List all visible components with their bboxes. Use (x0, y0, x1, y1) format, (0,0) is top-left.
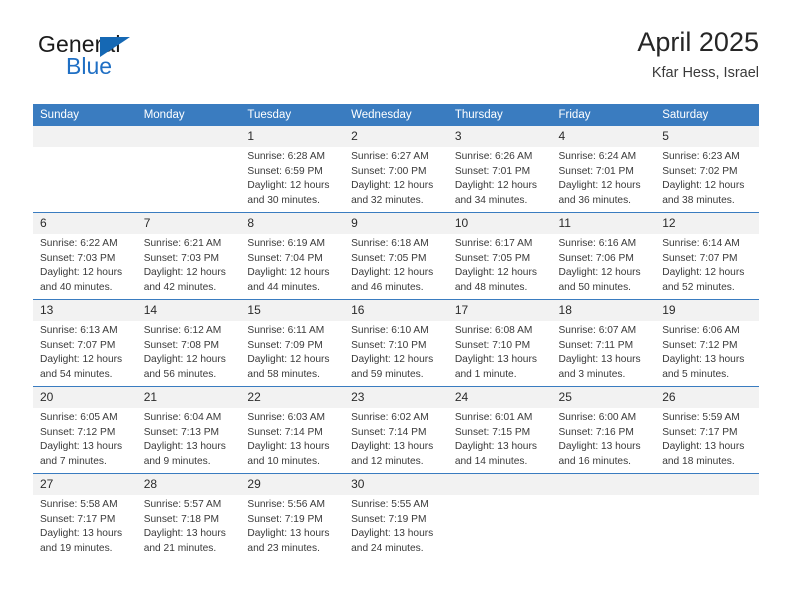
sunset-text: Sunset: 7:07 PM (662, 252, 753, 267)
daylight-text-line1: Daylight: 13 hours (247, 440, 338, 455)
sunrise-text: Sunrise: 6:22 AM (40, 237, 131, 252)
weekday-header-saturday: Saturday (655, 104, 759, 126)
sunset-text: Sunset: 7:18 PM (144, 513, 235, 528)
sunrise-text: Sunrise: 6:14 AM (662, 237, 753, 252)
daylight-text-line1: Daylight: 12 hours (40, 266, 131, 281)
day-cell-details[interactable]: Sunrise: 5:55 AMSunset: 7:19 PMDaylight:… (344, 495, 448, 560)
sunset-text: Sunset: 7:14 PM (351, 426, 442, 441)
empty-day-cell (552, 495, 656, 560)
empty-day-cell (448, 495, 552, 560)
daylight-text-line2: and 54 minutes. (40, 368, 131, 383)
sunrise-text: Sunrise: 6:00 AM (559, 411, 650, 426)
sunrise-text: Sunrise: 6:13 AM (40, 324, 131, 339)
sunrise-text: Sunrise: 6:21 AM (144, 237, 235, 252)
sunrise-text: Sunrise: 6:05 AM (40, 411, 131, 426)
day-number[interactable]: 2 (344, 126, 448, 147)
daylight-text-line2: and 7 minutes. (40, 455, 131, 470)
day-cell-details[interactable]: Sunrise: 6:27 AMSunset: 7:00 PMDaylight:… (344, 147, 448, 213)
sunset-text: Sunset: 7:02 PM (662, 165, 753, 180)
week-daynumber-row: 12345 (33, 126, 759, 147)
title-block: April 2025 Kfar Hess, Israel (637, 28, 759, 82)
sunset-text: Sunset: 7:00 PM (351, 165, 442, 180)
day-cell-details[interactable]: Sunrise: 6:07 AMSunset: 7:11 PMDaylight:… (552, 321, 656, 387)
sunset-text: Sunset: 7:07 PM (40, 339, 131, 354)
sunrise-text: Sunrise: 6:08 AM (455, 324, 546, 339)
day-cell-details[interactable]: Sunrise: 6:06 AMSunset: 7:12 PMDaylight:… (655, 321, 759, 387)
sunset-text: Sunset: 7:17 PM (662, 426, 753, 441)
daylight-text-line2: and 30 minutes. (247, 194, 338, 209)
daylight-text-line1: Daylight: 12 hours (144, 266, 235, 281)
daylight-text-line1: Daylight: 13 hours (559, 353, 650, 368)
location-subtitle: Kfar Hess, Israel (637, 66, 759, 82)
day-cell-details[interactable]: Sunrise: 6:01 AMSunset: 7:15 PMDaylight:… (448, 408, 552, 474)
day-number[interactable]: 12 (655, 213, 759, 235)
sunset-text: Sunset: 7:10 PM (455, 339, 546, 354)
day-number[interactable]: 4 (552, 126, 656, 147)
day-cell-details[interactable]: Sunrise: 6:04 AMSunset: 7:13 PMDaylight:… (137, 408, 241, 474)
day-number[interactable]: 18 (552, 300, 656, 322)
day-number[interactable]: 1 (240, 126, 344, 147)
week-daynumber-row: 20212223242526 (33, 387, 759, 409)
weekday-header-row: Sunday Monday Tuesday Wednesday Thursday… (33, 104, 759, 126)
day-cell-details[interactable]: Sunrise: 6:26 AMSunset: 7:01 PMDaylight:… (448, 147, 552, 213)
sunrise-text: Sunrise: 5:59 AM (662, 411, 753, 426)
day-number[interactable]: 6 (33, 213, 137, 235)
daylight-text-line1: Daylight: 13 hours (144, 440, 235, 455)
daylight-text-line1: Daylight: 12 hours (247, 353, 338, 368)
weekday-header-wednesday: Wednesday (344, 104, 448, 126)
day-cell-details[interactable]: Sunrise: 6:17 AMSunset: 7:05 PMDaylight:… (448, 234, 552, 300)
sunrise-text: Sunrise: 6:26 AM (455, 150, 546, 165)
sunrise-text: Sunrise: 5:56 AM (247, 498, 338, 513)
daylight-text-line2: and 46 minutes. (351, 281, 442, 296)
day-number[interactable]: 26 (655, 387, 759, 409)
daylight-text-line2: and 42 minutes. (144, 281, 235, 296)
sunset-text: Sunset: 7:05 PM (455, 252, 546, 267)
daylight-text-line1: Daylight: 13 hours (40, 527, 131, 542)
sunrise-text: Sunrise: 6:04 AM (144, 411, 235, 426)
day-number[interactable]: 17 (448, 300, 552, 322)
sunset-text: Sunset: 7:04 PM (247, 252, 338, 267)
empty-day-number (552, 474, 656, 496)
sunset-text: Sunset: 7:15 PM (455, 426, 546, 441)
daylight-text-line2: and 9 minutes. (144, 455, 235, 470)
sunset-text: Sunset: 7:06 PM (559, 252, 650, 267)
sunset-text: Sunset: 7:19 PM (351, 513, 442, 528)
daylight-text-line1: Daylight: 12 hours (662, 266, 753, 281)
sunset-text: Sunset: 7:12 PM (40, 426, 131, 441)
daylight-text-line1: Daylight: 12 hours (455, 179, 546, 194)
sunset-text: Sunset: 7:09 PM (247, 339, 338, 354)
day-number[interactable]: 21 (137, 387, 241, 409)
weekday-header-monday: Monday (137, 104, 241, 126)
day-cell-details[interactable]: Sunrise: 6:22 AMSunset: 7:03 PMDaylight:… (33, 234, 137, 300)
daylight-text-line1: Daylight: 13 hours (662, 440, 753, 455)
brand-name-blue: Blue (66, 55, 112, 78)
daylight-text-line2: and 12 minutes. (351, 455, 442, 470)
sunset-text: Sunset: 7:14 PM (247, 426, 338, 441)
day-number[interactable]: 15 (240, 300, 344, 322)
calendar-page: General Blue April 2025 Kfar Hess, Israe… (0, 0, 792, 612)
day-cell-details[interactable]: Sunrise: 6:12 AMSunset: 7:08 PMDaylight:… (137, 321, 241, 387)
daylight-text-line1: Daylight: 13 hours (351, 440, 442, 455)
sunrise-text: Sunrise: 6:23 AM (662, 150, 753, 165)
sunrise-text: Sunrise: 6:28 AM (247, 150, 338, 165)
sunset-text: Sunset: 7:03 PM (144, 252, 235, 267)
weekday-header-tuesday: Tuesday (240, 104, 344, 126)
day-number[interactable]: 16 (344, 300, 448, 322)
empty-day-number (137, 126, 241, 147)
sunrise-text: Sunrise: 6:07 AM (559, 324, 650, 339)
week-daynumber-row: 27282930 (33, 474, 759, 496)
day-cell-details[interactable]: Sunrise: 5:59 AMSunset: 7:17 PMDaylight:… (655, 408, 759, 474)
day-cell-details[interactable]: Sunrise: 6:24 AMSunset: 7:01 PMDaylight:… (552, 147, 656, 213)
day-number[interactable]: 14 (137, 300, 241, 322)
day-cell-details[interactable]: Sunrise: 6:19 AMSunset: 7:04 PMDaylight:… (240, 234, 344, 300)
sunset-text: Sunset: 6:59 PM (247, 165, 338, 180)
weekday-header-sunday: Sunday (33, 104, 137, 126)
daylight-text-line1: Daylight: 13 hours (40, 440, 131, 455)
daylight-text-line1: Daylight: 12 hours (662, 179, 753, 194)
daylight-text-line1: Daylight: 12 hours (40, 353, 131, 368)
daylight-text-line1: Daylight: 12 hours (351, 353, 442, 368)
daylight-text-line2: and 32 minutes. (351, 194, 442, 209)
daylight-text-line2: and 50 minutes. (559, 281, 650, 296)
daylight-text-line2: and 59 minutes. (351, 368, 442, 383)
week-detail-row: Sunrise: 6:28 AMSunset: 6:59 PMDaylight:… (33, 147, 759, 213)
daylight-text-line2: and 36 minutes. (559, 194, 650, 209)
day-cell-details[interactable]: Sunrise: 6:10 AMSunset: 7:10 PMDaylight:… (344, 321, 448, 387)
day-cell-details[interactable]: Sunrise: 5:57 AMSunset: 7:18 PMDaylight:… (137, 495, 241, 560)
week-detail-row: Sunrise: 6:22 AMSunset: 7:03 PMDaylight:… (33, 234, 759, 300)
daylight-text-line2: and 52 minutes. (662, 281, 753, 296)
sunrise-text: Sunrise: 5:57 AM (144, 498, 235, 513)
daylight-text-line2: and 23 minutes. (247, 542, 338, 557)
sunset-text: Sunset: 7:19 PM (247, 513, 338, 528)
empty-day-number (448, 474, 552, 496)
day-number[interactable]: 28 (137, 474, 241, 496)
day-number[interactable]: 11 (552, 213, 656, 235)
daylight-text-line2: and 58 minutes. (247, 368, 338, 383)
sunrise-text: Sunrise: 6:11 AM (247, 324, 338, 339)
day-cell-details[interactable]: Sunrise: 6:23 AMSunset: 7:02 PMDaylight:… (655, 147, 759, 213)
daylight-text-line2: and 16 minutes. (559, 455, 650, 470)
daylight-text-line1: Daylight: 12 hours (455, 266, 546, 281)
sunrise-text: Sunrise: 6:17 AM (455, 237, 546, 252)
sunrise-text: Sunrise: 6:01 AM (455, 411, 546, 426)
daylight-text-line1: Daylight: 13 hours (455, 353, 546, 368)
daylight-text-line2: and 18 minutes. (662, 455, 753, 470)
day-number[interactable]: 19 (655, 300, 759, 322)
daylight-text-line1: Daylight: 13 hours (144, 527, 235, 542)
day-cell-details[interactable]: Sunrise: 6:03 AMSunset: 7:14 PMDaylight:… (240, 408, 344, 474)
empty-day-cell (137, 147, 241, 213)
day-cell-details[interactable]: Sunrise: 5:56 AMSunset: 7:19 PMDaylight:… (240, 495, 344, 560)
page-title: April 2025 (637, 28, 759, 58)
daylight-text-line2: and 34 minutes. (455, 194, 546, 209)
day-cell-details[interactable]: Sunrise: 6:21 AMSunset: 7:03 PMDaylight:… (137, 234, 241, 300)
daylight-text-line2: and 5 minutes. (662, 368, 753, 383)
week-detail-row: Sunrise: 6:05 AMSunset: 7:12 PMDaylight:… (33, 408, 759, 474)
day-cell-details[interactable]: Sunrise: 5:58 AMSunset: 7:17 PMDaylight:… (33, 495, 137, 560)
day-cell-details[interactable]: Sunrise: 6:08 AMSunset: 7:10 PMDaylight:… (448, 321, 552, 387)
sunrise-text: Sunrise: 6:16 AM (559, 237, 650, 252)
daylight-text-line1: Daylight: 12 hours (247, 179, 338, 194)
daylight-text-line2: and 48 minutes. (455, 281, 546, 296)
week-detail-row: Sunrise: 6:13 AMSunset: 7:07 PMDaylight:… (33, 321, 759, 387)
daylight-text-line1: Daylight: 12 hours (144, 353, 235, 368)
daylight-text-line1: Daylight: 12 hours (351, 179, 442, 194)
daylight-text-line2: and 19 minutes. (40, 542, 131, 557)
day-number[interactable]: 8 (240, 213, 344, 235)
empty-day-number (655, 474, 759, 496)
sunset-text: Sunset: 7:11 PM (559, 339, 650, 354)
day-number[interactable]: 3 (448, 126, 552, 147)
day-number[interactable]: 5 (655, 126, 759, 147)
daylight-text-line2: and 3 minutes. (559, 368, 650, 383)
daylight-text-line1: Daylight: 12 hours (351, 266, 442, 281)
day-number[interactable]: 30 (344, 474, 448, 496)
sunset-text: Sunset: 7:10 PM (351, 339, 442, 354)
daylight-text-line1: Daylight: 13 hours (455, 440, 546, 455)
daylight-text-line2: and 56 minutes. (144, 368, 235, 383)
day-cell-details[interactable]: Sunrise: 6:14 AMSunset: 7:07 PMDaylight:… (655, 234, 759, 300)
sunrise-text: Sunrise: 6:19 AM (247, 237, 338, 252)
day-cell-details[interactable]: Sunrise: 6:28 AMSunset: 6:59 PMDaylight:… (240, 147, 344, 213)
sunset-text: Sunset: 7:08 PM (144, 339, 235, 354)
sunset-text: Sunset: 7:13 PM (144, 426, 235, 441)
sunset-text: Sunset: 7:12 PM (662, 339, 753, 354)
sunset-text: Sunset: 7:01 PM (559, 165, 650, 180)
day-number[interactable]: 7 (137, 213, 241, 235)
sunrise-text: Sunrise: 6:27 AM (351, 150, 442, 165)
calendar-body: 12345Sunrise: 6:28 AMSunset: 6:59 PMDayl… (33, 126, 759, 560)
day-cell-details[interactable]: Sunrise: 6:00 AMSunset: 7:16 PMDaylight:… (552, 408, 656, 474)
day-cell-details[interactable]: Sunrise: 6:18 AMSunset: 7:05 PMDaylight:… (344, 234, 448, 300)
day-number[interactable]: 27 (33, 474, 137, 496)
sunset-text: Sunset: 7:17 PM (40, 513, 131, 528)
daylight-text-line1: Daylight: 13 hours (351, 527, 442, 542)
daylight-text-line1: Daylight: 13 hours (662, 353, 753, 368)
sunset-text: Sunset: 7:05 PM (351, 252, 442, 267)
brand-logo[interactable]: General Blue (38, 33, 188, 91)
daylight-text-line2: and 21 minutes. (144, 542, 235, 557)
day-number[interactable]: 10 (448, 213, 552, 235)
sunrise-sunset-calendar-table: Sunday Monday Tuesday Wednesday Thursday… (33, 104, 759, 560)
day-number[interactable]: 25 (552, 387, 656, 409)
daylight-text-line1: Daylight: 13 hours (247, 527, 338, 542)
day-number[interactable]: 22 (240, 387, 344, 409)
day-cell-details[interactable]: Sunrise: 6:11 AMSunset: 7:09 PMDaylight:… (240, 321, 344, 387)
day-number[interactable]: 29 (240, 474, 344, 496)
sunrise-text: Sunrise: 6:24 AM (559, 150, 650, 165)
sunrise-text: Sunrise: 5:58 AM (40, 498, 131, 513)
sunset-text: Sunset: 7:01 PM (455, 165, 546, 180)
daylight-text-line2: and 10 minutes. (247, 455, 338, 470)
day-number[interactable]: 23 (344, 387, 448, 409)
weekday-header-friday: Friday (552, 104, 656, 126)
daylight-text-line2: and 40 minutes. (40, 281, 131, 296)
day-number[interactable]: 9 (344, 213, 448, 235)
week-daynumber-row: 6789101112 (33, 213, 759, 235)
sunrise-text: Sunrise: 6:06 AM (662, 324, 753, 339)
day-cell-details[interactable]: Sunrise: 6:05 AMSunset: 7:12 PMDaylight:… (33, 408, 137, 474)
sunrise-text: Sunrise: 6:10 AM (351, 324, 442, 339)
weekday-header-thursday: Thursday (448, 104, 552, 126)
day-cell-details[interactable]: Sunrise: 6:02 AMSunset: 7:14 PMDaylight:… (344, 408, 448, 474)
sunset-text: Sunset: 7:16 PM (559, 426, 650, 441)
daylight-text-line1: Daylight: 12 hours (559, 266, 650, 281)
daylight-text-line2: and 38 minutes. (662, 194, 753, 209)
daylight-text-line1: Daylight: 12 hours (247, 266, 338, 281)
week-daynumber-row: 13141516171819 (33, 300, 759, 322)
day-cell-details[interactable]: Sunrise: 6:13 AMSunset: 7:07 PMDaylight:… (33, 321, 137, 387)
sunrise-text: Sunrise: 6:18 AM (351, 237, 442, 252)
day-number[interactable]: 20 (33, 387, 137, 409)
week-detail-row: Sunrise: 5:58 AMSunset: 7:17 PMDaylight:… (33, 495, 759, 560)
sunrise-text: Sunrise: 5:55 AM (351, 498, 442, 513)
day-number[interactable]: 24 (448, 387, 552, 409)
empty-day-cell (655, 495, 759, 560)
daylight-text-line2: and 24 minutes. (351, 542, 442, 557)
page-header: General Blue April 2025 Kfar Hess, Israe… (33, 28, 759, 98)
daylight-text-line2: and 14 minutes. (455, 455, 546, 470)
sunrise-text: Sunrise: 6:03 AM (247, 411, 338, 426)
daylight-text-line1: Daylight: 13 hours (559, 440, 650, 455)
empty-day-cell (33, 147, 137, 213)
day-number[interactable]: 13 (33, 300, 137, 322)
daylight-text-line2: and 1 minute. (455, 368, 546, 383)
daylight-text-line2: and 44 minutes. (247, 281, 338, 296)
sunrise-text: Sunrise: 6:12 AM (144, 324, 235, 339)
sunset-text: Sunset: 7:03 PM (40, 252, 131, 267)
sunrise-text: Sunrise: 6:02 AM (351, 411, 442, 426)
daylight-text-line1: Daylight: 12 hours (559, 179, 650, 194)
empty-day-number (33, 126, 137, 147)
day-cell-details[interactable]: Sunrise: 6:16 AMSunset: 7:06 PMDaylight:… (552, 234, 656, 300)
